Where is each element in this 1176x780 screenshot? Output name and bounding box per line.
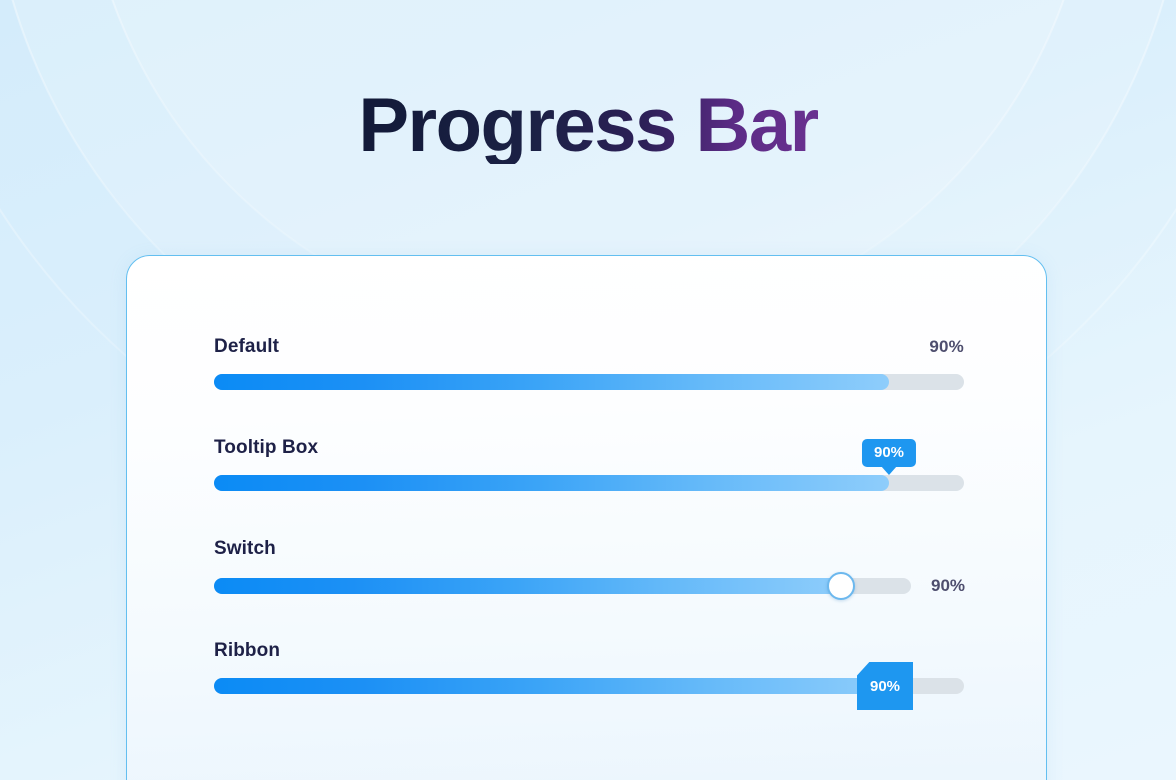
progress-value-default: 90% bbox=[929, 337, 964, 357]
page-title-container: Progress Bar bbox=[0, 88, 1176, 164]
progress-fill-switch bbox=[214, 578, 841, 594]
progress-value-switch: 90% bbox=[931, 576, 965, 596]
progress-row-switch: Switch 90% bbox=[214, 538, 964, 596]
progress-row-default: Default 90% bbox=[214, 336, 964, 390]
progress-label-default: Default bbox=[214, 336, 279, 358]
progress-fill-tooltip bbox=[214, 475, 889, 491]
progress-label-switch: Switch bbox=[214, 538, 276, 560]
progress-track-switch[interactable] bbox=[214, 578, 911, 594]
progress-switch-knob[interactable] bbox=[827, 572, 855, 600]
progress-row-tooltip: Tooltip Box 90% bbox=[214, 437, 964, 491]
progress-row-default-header: Default 90% bbox=[214, 336, 964, 358]
progress-label-ribbon: Ribbon bbox=[214, 640, 280, 662]
progress-ribbon-badge: 90% bbox=[857, 662, 913, 710]
progress-row-ribbon: Ribbon 90% bbox=[214, 640, 964, 694]
progress-row-switch-header: Switch bbox=[214, 538, 964, 560]
progress-label-tooltip: Tooltip Box bbox=[214, 437, 318, 459]
progress-track-default[interactable] bbox=[214, 374, 964, 390]
progress-row-tooltip-header: Tooltip Box bbox=[214, 437, 964, 459]
progress-fill-default bbox=[214, 374, 889, 390]
progress-bar-line-switch: 90% bbox=[214, 576, 964, 596]
progress-row-ribbon-header: Ribbon bbox=[214, 640, 964, 662]
progress-fill-ribbon bbox=[214, 678, 889, 694]
progress-tooltip-badge: 90% bbox=[862, 439, 916, 467]
page-title: Progress Bar bbox=[358, 88, 817, 164]
progress-bar-card: Default 90% Tooltip Box 90% Switch 90% bbox=[126, 255, 1047, 780]
progress-track-ribbon[interactable]: 90% bbox=[214, 678, 964, 694]
progress-track-tooltip[interactable]: 90% bbox=[214, 475, 964, 491]
